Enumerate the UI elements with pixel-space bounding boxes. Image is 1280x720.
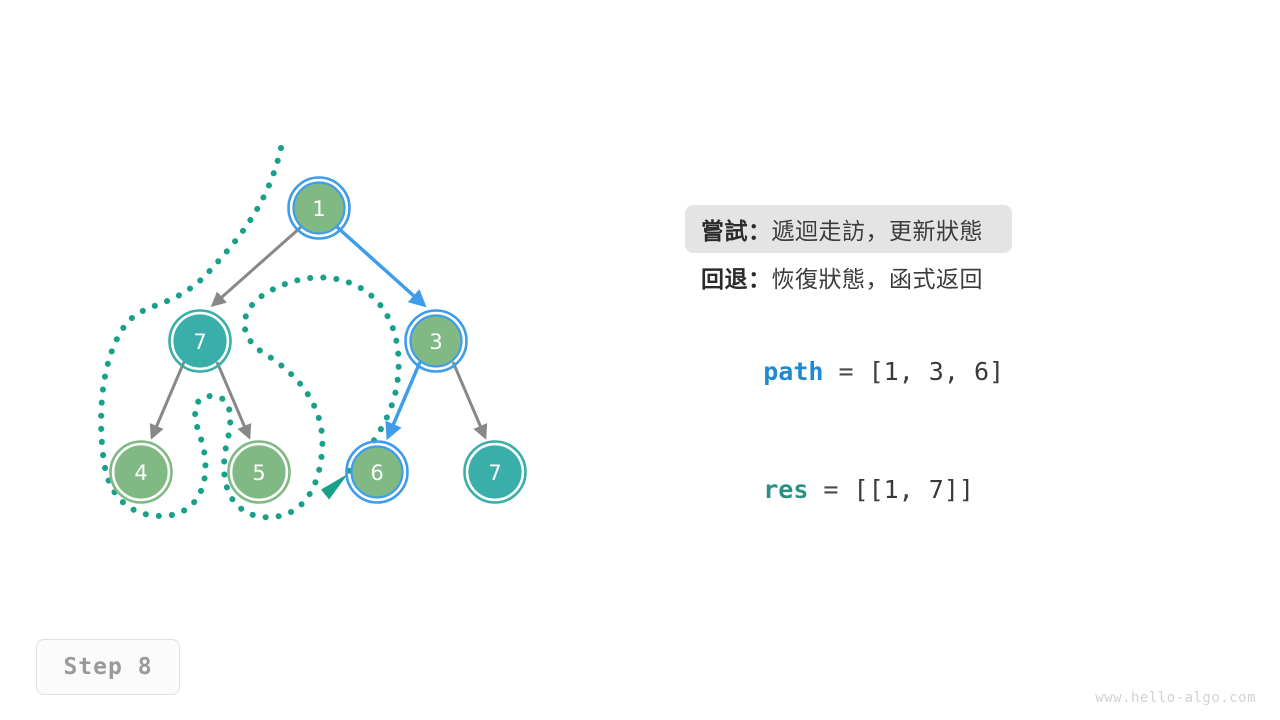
code-op-path: = [823,357,868,386]
edge-1-to-3 [337,227,424,305]
edge-3-to-6 [388,362,420,437]
tree-node-6[interactable]: 6 [347,442,408,503]
tree-node-6-label: 6 [370,461,383,485]
code-var-path: path [763,357,823,386]
tree-node-7-left-label: 7 [193,330,206,354]
tree-node-3-label: 3 [429,330,442,354]
edge-1-to-7left [213,227,301,305]
code-op-res: = [808,475,853,504]
trace-arrow-head-icon [319,469,348,502]
info-panel: 嘗試： 遞迴走訪，更新狀態 回退： 恢復狀態，函式返回 [685,205,1205,301]
binary-tree-diagram: 1 7 3 4 5 [0,0,1280,720]
tree-node-4-label: 4 [134,461,147,485]
tree-nodes: 1 7 3 4 5 [111,178,526,503]
tree-node-1[interactable]: 1 [289,178,350,239]
code-line-res: res = [[1, 7]] [703,446,974,533]
step-badge: Step 8 [36,639,180,695]
tree-node-1-label: 1 [312,197,325,221]
edge-7left-to-4 [152,362,184,437]
hint-row-backtrack: 回退： 恢復狀態，函式返回 [685,253,1205,301]
watermark-text: www.hello-algo.com [1095,690,1256,706]
tree-node-4[interactable]: 4 [111,442,172,503]
hint-row-try: 嘗試： 遞迴走訪，更新狀態 [685,205,1012,253]
code-line-path: path = [1, 3, 6] [703,328,1004,415]
illustration-canvas: 1 7 3 4 5 [0,0,1280,720]
step-badge-label: Step 8 [63,654,152,680]
hint-backtrack-key: 回退： [701,260,772,294]
code-value-path: [1, 3, 6] [869,357,1004,386]
tree-node-3[interactable]: 3 [406,311,467,372]
code-value-res: [[1, 7]] [854,475,974,504]
tree-node-7-right[interactable]: 7 [465,442,526,503]
tree-node-5[interactable]: 5 [229,442,290,503]
tree-node-7-left[interactable]: 7 [170,311,231,372]
site-watermark: www.hello-algo.com [1095,690,1256,706]
tree-node-5-label: 5 [252,461,265,485]
tree-node-7-right-label: 7 [488,461,501,485]
hint-try-value: 遞迴走訪，更新狀態 [772,212,984,246]
hint-try-key: 嘗試： [701,212,772,246]
edge-3-to-7right [453,362,485,437]
code-var-res: res [763,475,808,504]
hint-backtrack-value: 恢復狀態，函式返回 [772,260,984,294]
